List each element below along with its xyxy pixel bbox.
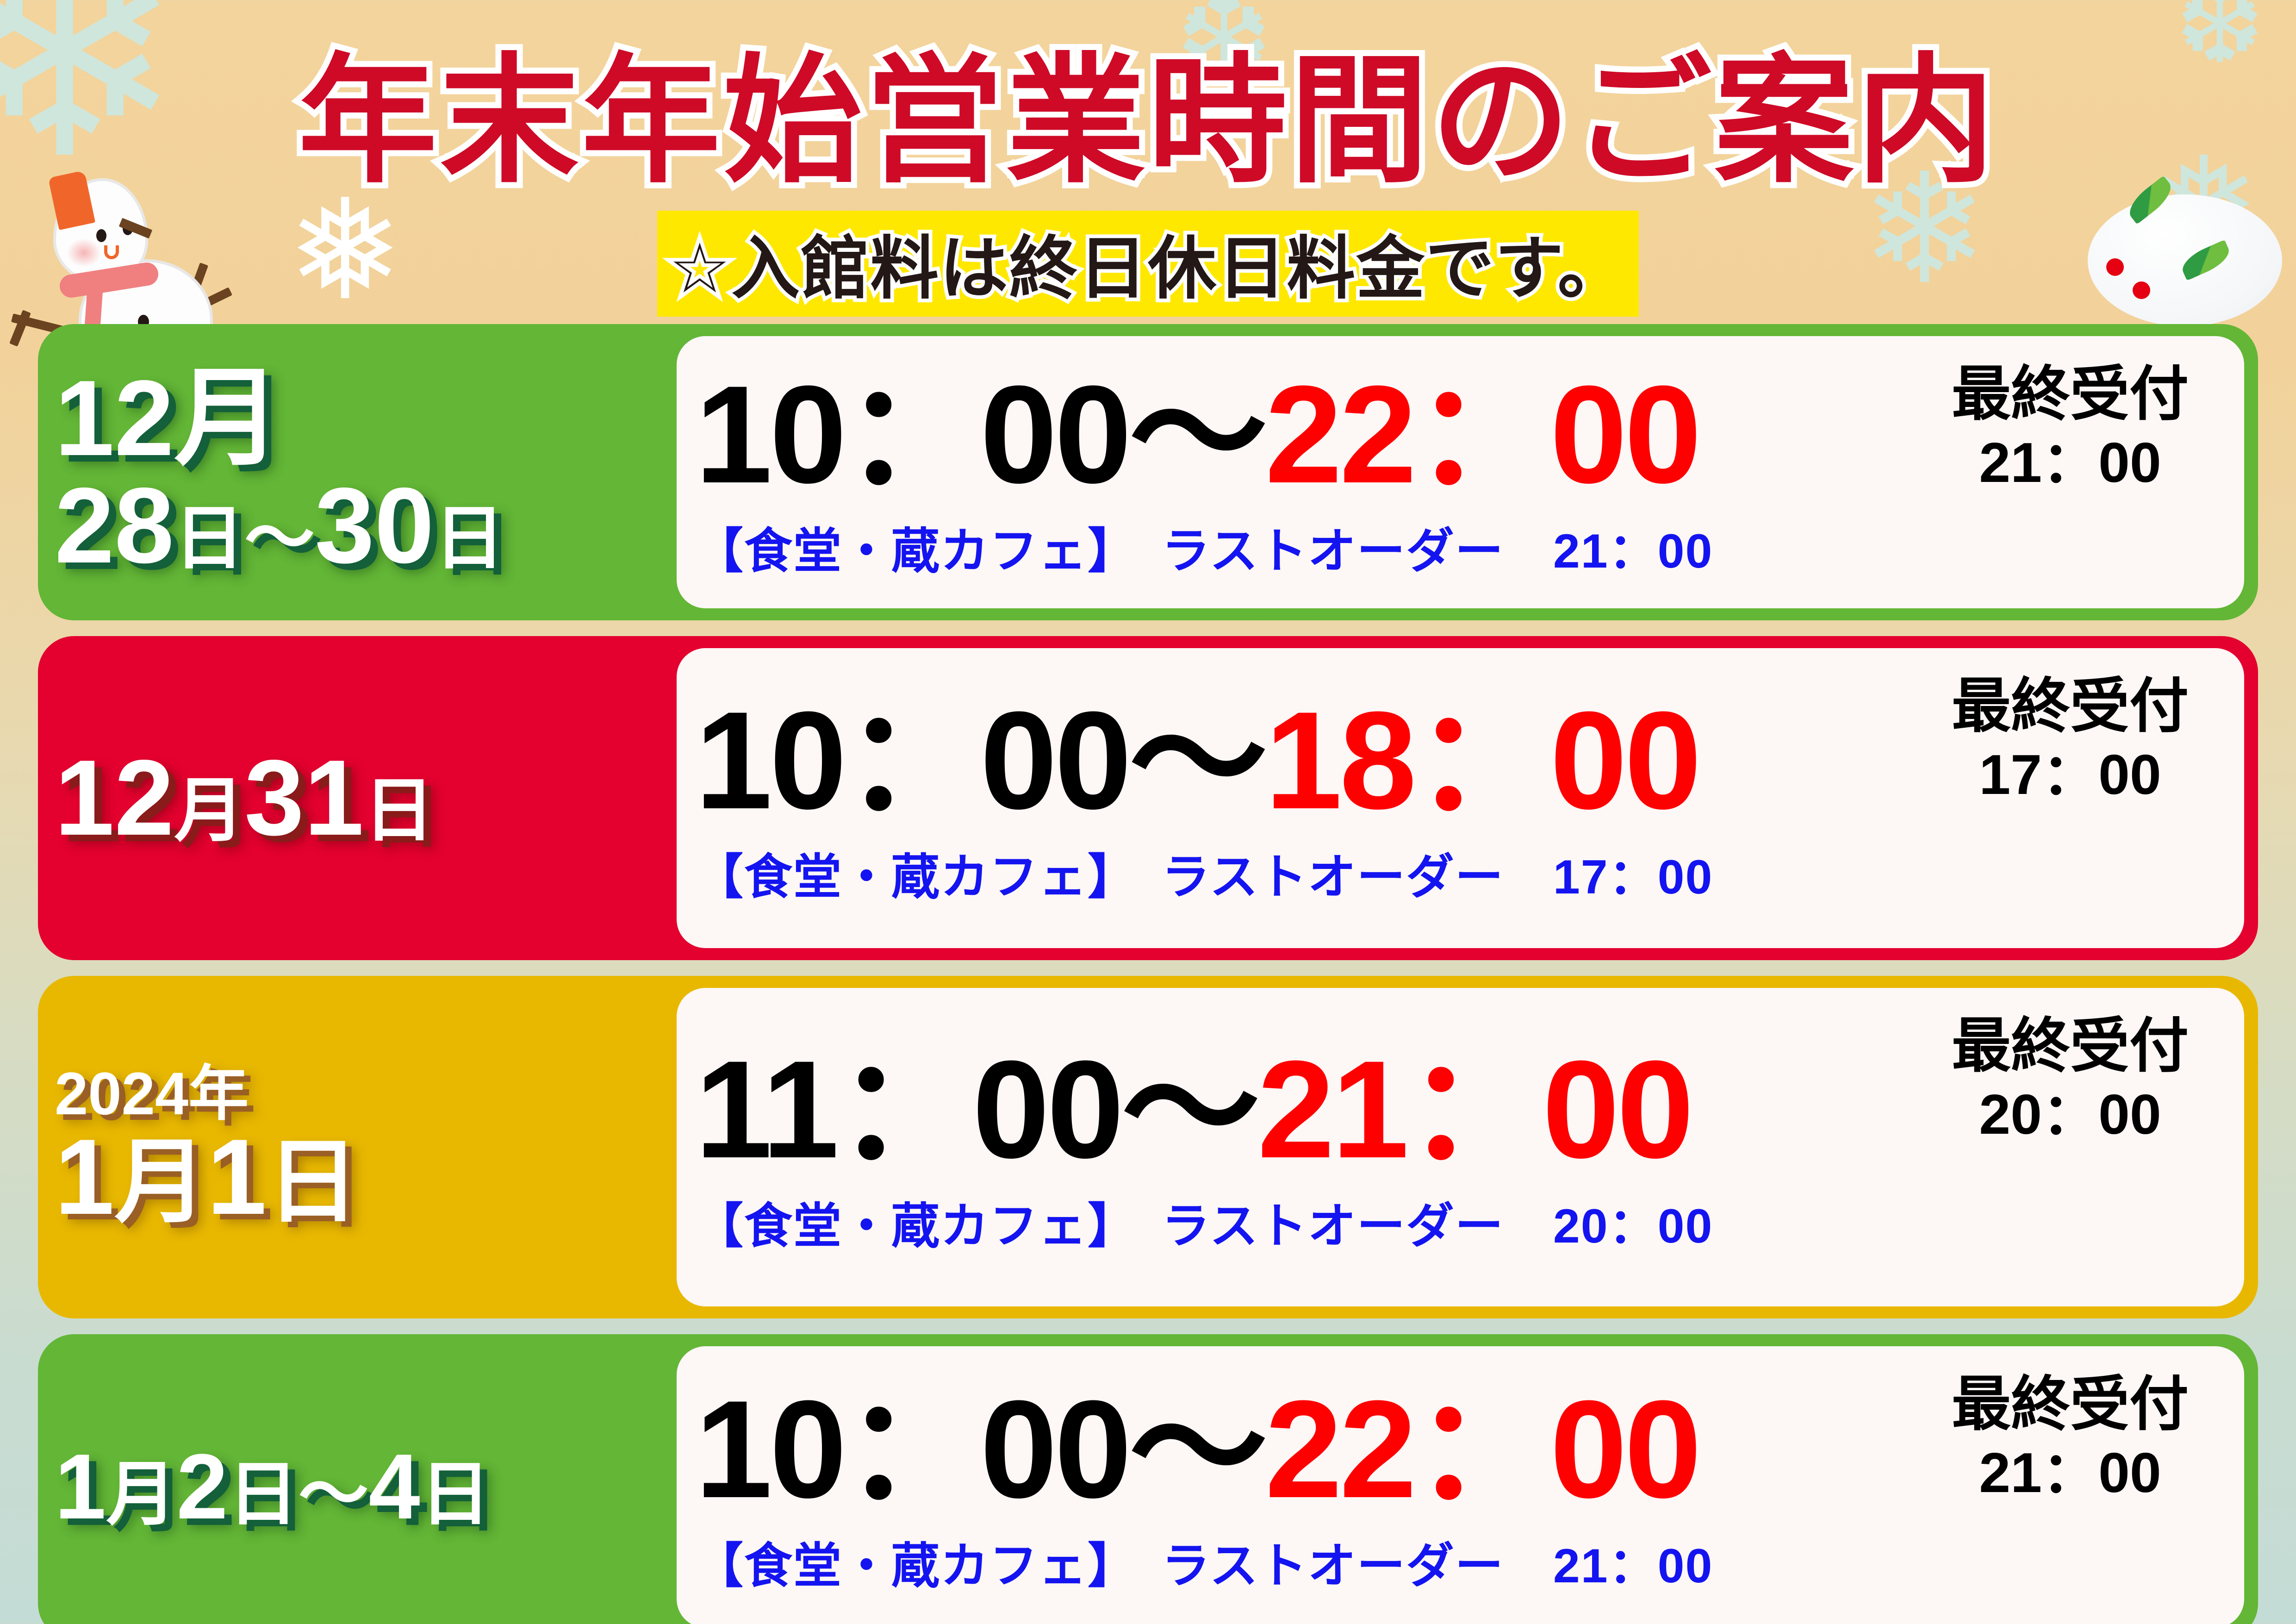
date-day-end: 4 <box>368 1435 420 1538</box>
date-day-number: 1 <box>207 1117 267 1237</box>
last-admission-time: 20：00 <box>1908 1079 2232 1150</box>
date-month-number: 1 <box>55 1117 114 1237</box>
date-day-number: 31 <box>244 738 364 858</box>
hours-card: 10：00～22：00 【食堂・蔵カフェ】 ラストオーダー 21：00 最終受付… <box>677 336 2244 608</box>
date-cell: 2024年 1月1日 <box>38 1063 677 1231</box>
date-day-start: 2 <box>176 1435 228 1538</box>
subtitle-highlight: ☆入館料は終日休日料金です。 <box>657 211 1639 317</box>
hours-card: 10：00～18：00 【食堂・蔵カフェ】 ラストオーダー 17：00 最終受付… <box>677 648 2244 948</box>
last-admission-time: 17：00 <box>1908 739 2232 810</box>
date-cell: 1月2日～4日 <box>38 1441 677 1533</box>
poster-header: 年末年始営業時間のご案内 ☆入館料は終日休日料金です。 <box>0 0 2296 324</box>
time-separator: ～ <box>1129 682 1265 838</box>
last-admission-time: 21：00 <box>1908 427 2232 498</box>
time-block: 10：00～22：00 【食堂・蔵カフェ】 ラストオーダー 21：00 <box>695 363 1908 581</box>
subtitle-text: ☆入館料は終日休日料金です。 <box>669 212 1627 312</box>
last-admission: 最終受付 21：00 <box>1908 1346 2232 1508</box>
date-range-separator: ～ <box>298 1455 368 1534</box>
date-day-end-unit: 日 <box>434 499 504 578</box>
time-block: 10：00～22：00 【食堂・蔵カフェ】 ラストオーダー 21：00 <box>695 1378 1908 1596</box>
date-month-unit: 月 <box>174 771 244 850</box>
date-day-unit: 日 <box>364 771 434 850</box>
subtitle-container: ☆入館料は終日休日料金です。 <box>0 211 2296 317</box>
last-order-note: 【食堂・蔵カフェ】 ラストオーダー 21：00 <box>695 1526 1908 1596</box>
last-admission-label: 最終受付 <box>1908 674 2232 739</box>
time-block: 10：00～18：00 【食堂・蔵カフェ】 ラストオーダー 17：00 <box>695 689 1908 907</box>
schedule-row-jan1: 2024年 1月1日 11：00～21：00 【食堂・蔵カフェ】 ラストオーダー… <box>38 976 2258 1318</box>
date-month-text: 12月 <box>55 358 281 478</box>
last-order-note: 【食堂・蔵カフェ】 ラストオーダー 21：00 <box>695 512 1908 581</box>
date-day-start-unit: 日 <box>228 1455 298 1534</box>
date-line: 1月1日 <box>55 1124 677 1231</box>
open-time: 11：00 <box>695 1031 1121 1187</box>
last-admission-label: 最終受付 <box>1908 362 2232 427</box>
last-admission-time: 21：00 <box>1908 1437 2232 1508</box>
last-admission-label: 最終受付 <box>1908 1014 2232 1079</box>
last-order-note: 【食堂・蔵カフェ】 ラストオーダー 17：00 <box>695 837 1908 907</box>
date-month-number: 1 <box>55 1435 106 1538</box>
last-admission: 最終受付 20：00 <box>1908 988 2232 1149</box>
close-time: 21：00 <box>1257 1031 1691 1187</box>
open-time: 10：00 <box>695 1371 1129 1527</box>
opening-hours: 10：00～22：00 <box>695 1378 1908 1520</box>
date-day-unit: 日 <box>267 1131 359 1234</box>
date-line-days: 28日～30日 <box>55 472 677 580</box>
schedule-row-dec31: 12月31日 10：00～18：00 【食堂・蔵カフェ】 ラストオーダー 17：… <box>38 636 2258 960</box>
date-day-end: 30 <box>315 466 434 586</box>
opening-hours: 10：00～18：00 <box>695 689 1908 831</box>
date-month-unit: 月 <box>106 1455 176 1534</box>
date-line-month: 12月 <box>55 365 677 472</box>
date-cell: 12月31日 <box>38 744 677 852</box>
date-month-unit: 月 <box>114 1131 207 1234</box>
close-time: 22：00 <box>1265 1371 1699 1527</box>
opening-hours: 11：00～21：00 <box>695 1038 1908 1180</box>
date-month-number: 12 <box>55 738 174 858</box>
date-line: 1月2日～4日 <box>55 1441 677 1533</box>
opening-hours: 10：00～22：00 <box>695 363 1908 505</box>
time-separator: ～ <box>1129 356 1265 512</box>
open-time: 10：00 <box>695 682 1129 838</box>
date-range-separator: ～ <box>244 499 315 578</box>
schedule-row-jan2-4: 1月2日～4日 10：00～22：00 【食堂・蔵カフェ】 ラストオーダー 21… <box>38 1334 2258 1624</box>
schedule-row-dec28-30: 12月 28日～30日 10：00～22：00 【食堂・蔵カフェ】 ラストオーダ… <box>38 324 2258 620</box>
last-admission: 最終受付 21：00 <box>1908 336 2232 498</box>
time-block: 11：00～21：00 【食堂・蔵カフェ】 ラストオーダー 20：00 <box>695 1038 1908 1256</box>
date-day-start-unit: 日 <box>174 499 244 578</box>
hours-card: 11：00～21：00 【食堂・蔵カフェ】 ラストオーダー 20：00 最終受付… <box>677 988 2244 1306</box>
time-separator: ～ <box>1129 1371 1265 1527</box>
schedule-list: 12月 28日～30日 10：00～22：00 【食堂・蔵カフェ】 ラストオーダ… <box>0 324 2296 1624</box>
close-time: 18：00 <box>1265 682 1699 838</box>
open-time: 10：00 <box>695 356 1129 512</box>
date-day-start: 28 <box>55 466 174 586</box>
page-title: 年末年始営業時間のご案内 <box>0 8 2296 209</box>
date-day-end-unit: 日 <box>420 1455 491 1534</box>
last-admission-label: 最終受付 <box>1908 1372 2232 1437</box>
date-cell: 12月 28日～30日 <box>38 365 677 580</box>
date-line-year: 2024年 <box>55 1063 677 1124</box>
hours-card: 10：00～22：00 【食堂・蔵カフェ】 ラストオーダー 21：00 最終受付… <box>677 1346 2244 1624</box>
close-time: 22：00 <box>1265 356 1699 512</box>
time-separator: ～ <box>1121 1031 1257 1187</box>
date-line: 12月31日 <box>55 744 677 852</box>
last-order-note: 【食堂・蔵カフェ】 ラストオーダー 20：00 <box>695 1187 1908 1256</box>
last-admission: 最終受付 17：00 <box>1908 648 2232 810</box>
